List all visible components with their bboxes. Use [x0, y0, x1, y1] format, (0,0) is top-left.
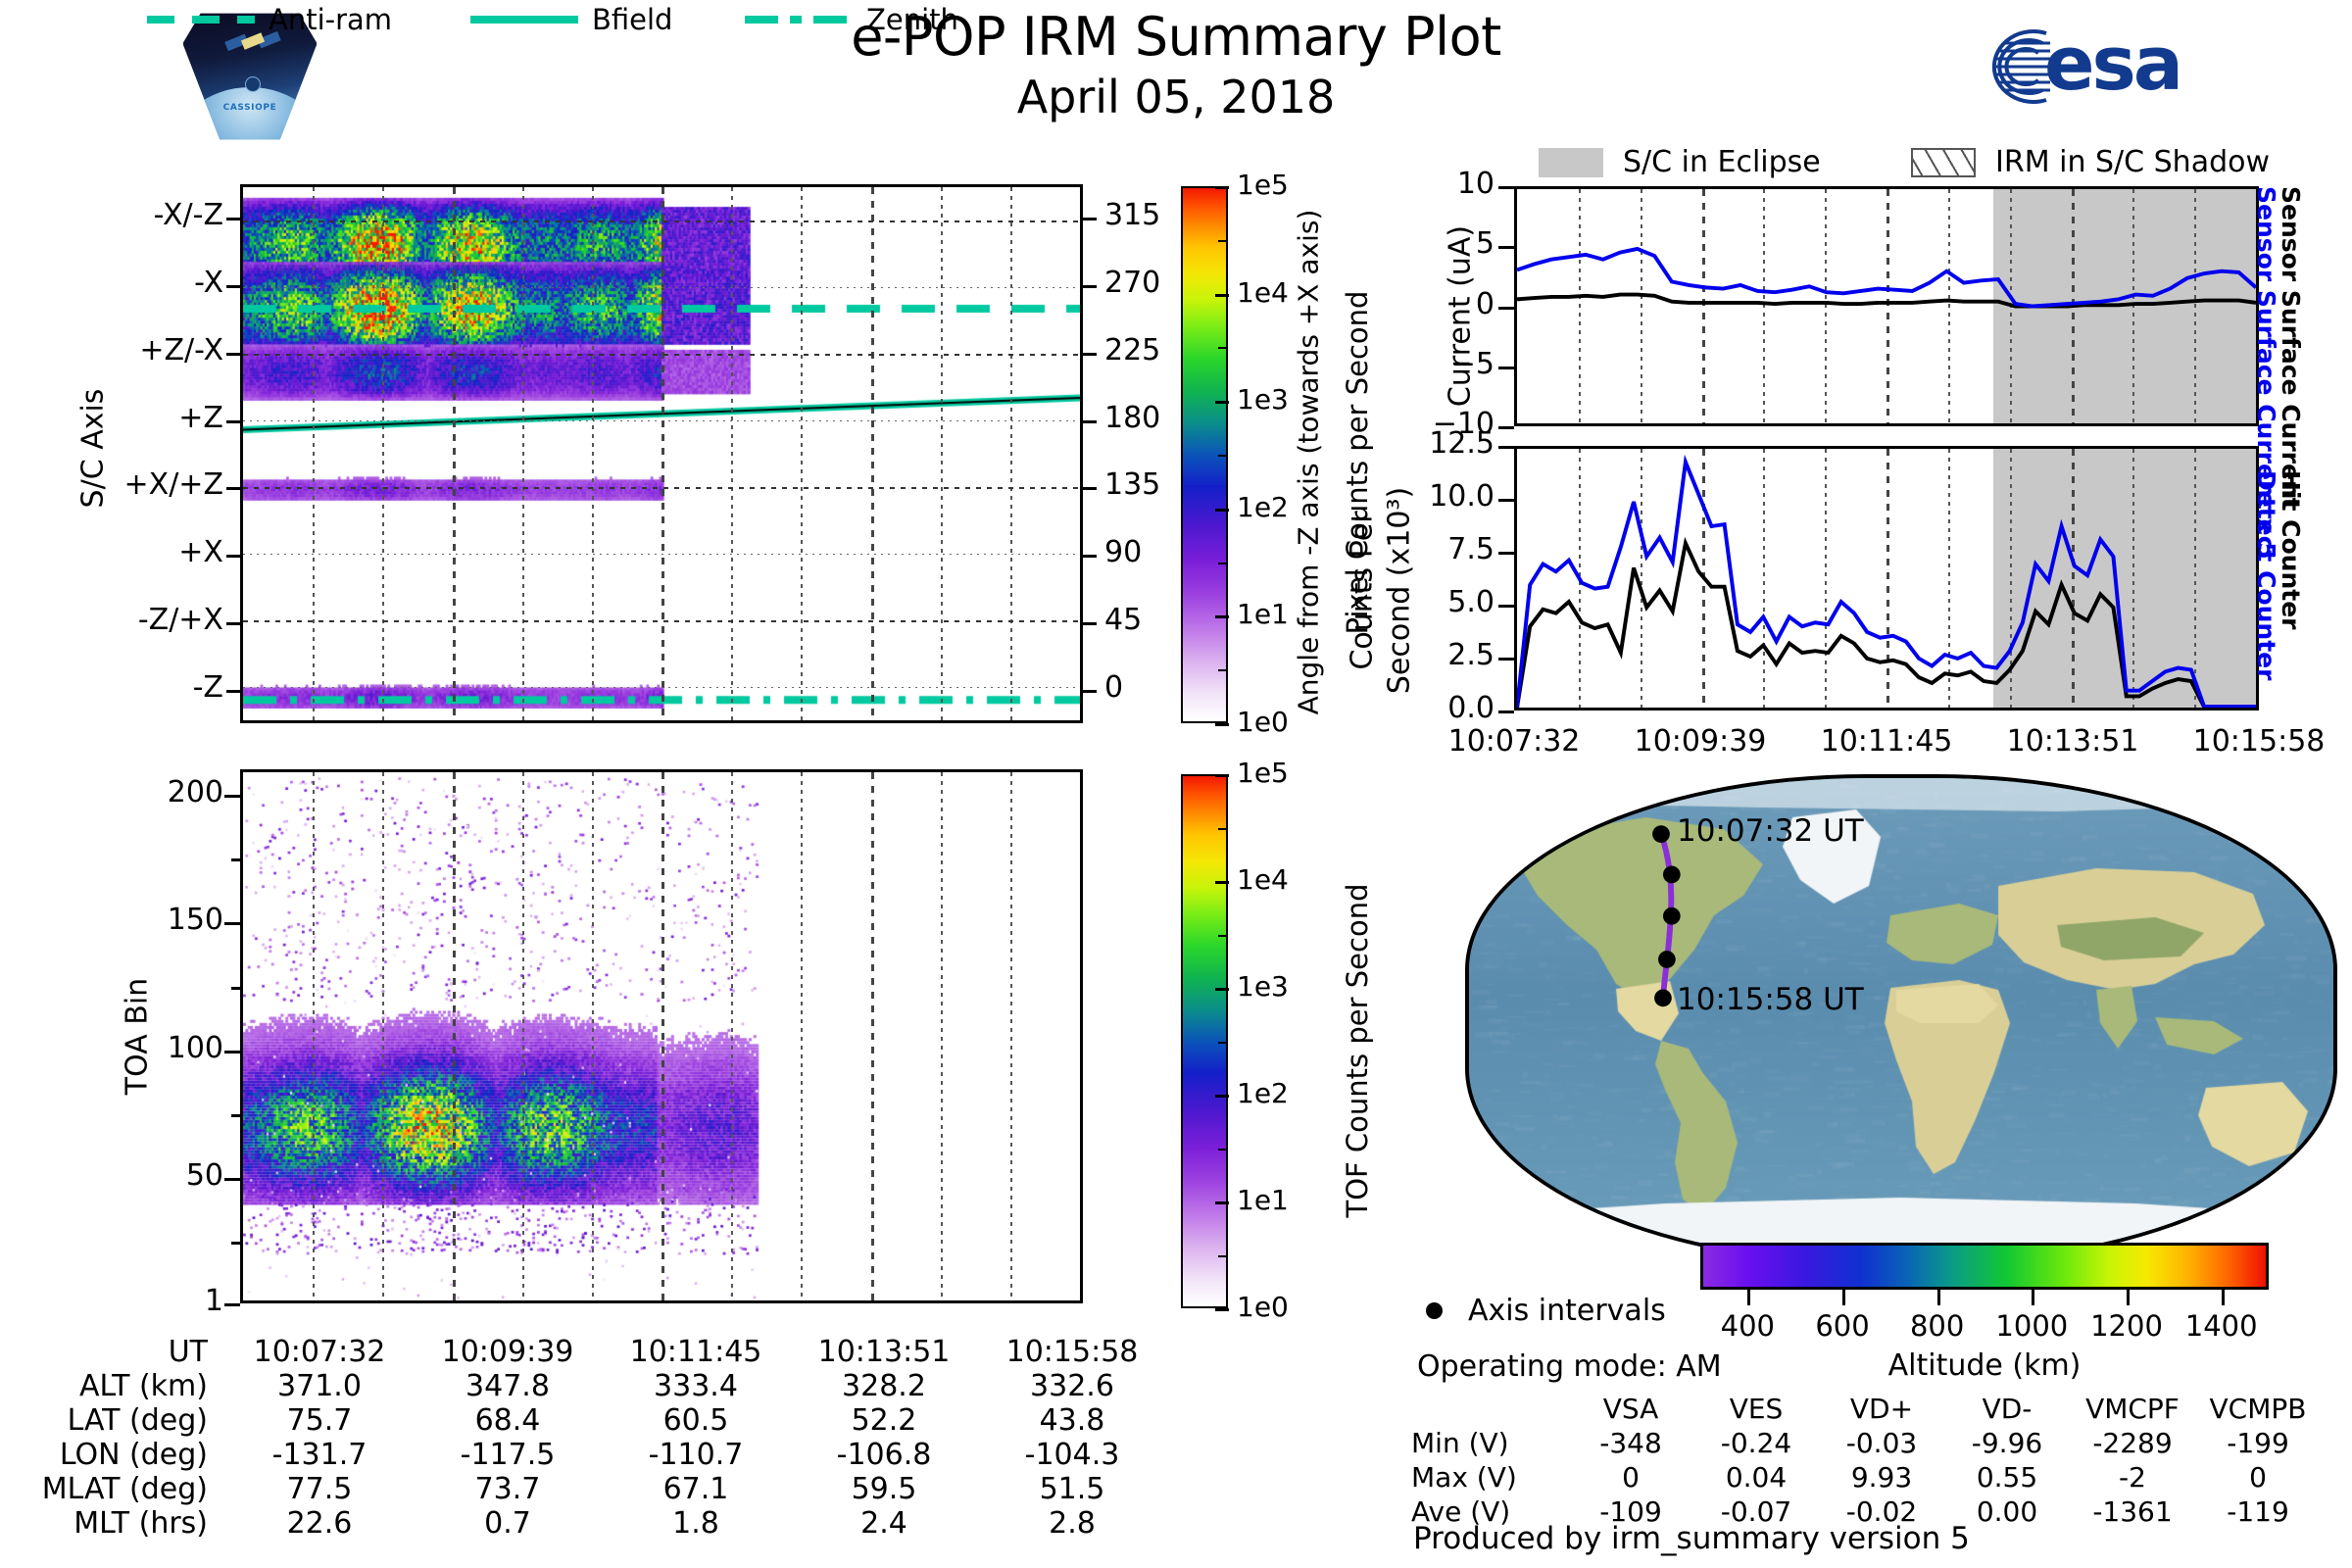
colorbar-minor-tick — [1218, 294, 1228, 296]
legend-label-anti-ram: Anti-ram — [269, 3, 392, 36]
colorbar-minor-tick — [1218, 1095, 1228, 1097]
gridline-horizontal — [243, 220, 1080, 222]
toa-ytick-2: 100 — [0, 1031, 223, 1065]
gridline-vertical — [731, 187, 733, 720]
ytick-mark — [1498, 658, 1514, 661]
ephemeris-cell: 68.4 — [414, 1403, 602, 1438]
ytick-mark — [226, 622, 240, 625]
gridline-vertical — [382, 772, 384, 1300]
colorbar-minor-tick — [1218, 1149, 1228, 1151]
legend-item-shadow: IRM in S/C Shadow — [1911, 145, 2270, 179]
shadow-hatch-swatch-icon — [1911, 148, 1976, 177]
counts-ytick-1: 10.0 — [1338, 479, 1494, 514]
angle-tick-6: 45 — [1104, 603, 1142, 637]
ytick-minor — [231, 1114, 240, 1117]
ytick-minor — [231, 1178, 240, 1181]
gridline-horizontal — [243, 420, 1080, 421]
counts-ytick-0: 12.5 — [1338, 426, 1494, 461]
ephemeris-cell: 332.6 — [978, 1369, 1166, 1403]
ephemeris-cell: 43.8 — [978, 1403, 1166, 1438]
ephemeris-cell: 75.7 — [225, 1403, 414, 1438]
ytick-mark — [1498, 446, 1514, 449]
colorbar-minor-tick — [1218, 615, 1228, 617]
gridline-vertical — [453, 772, 456, 1300]
voltage-cell: 0.55 — [1944, 1460, 2070, 1494]
current-ytick-2: 0 — [1338, 287, 1494, 321]
angle-panel-ytick-2: +Z/-X — [0, 333, 223, 367]
ytick-mark — [1498, 710, 1514, 713]
table-row: LAT (deg)75.768.460.552.243.8 — [29, 1403, 1166, 1438]
ephemeris-cell: 2.8 — [978, 1506, 1166, 1541]
orbit-world-map: 10:07:32 UT 10:15:58 UT — [1465, 774, 2337, 1264]
ytick-mark — [226, 353, 240, 356]
colorbar-tick-1: 1e4 — [1237, 276, 1289, 309]
anti-ram-line-icon — [147, 16, 255, 24]
ytick-mark — [226, 690, 240, 693]
ytick-mark — [226, 420, 240, 423]
table-row: ALT (km)371.0347.8333.4328.2332.6 — [29, 1369, 1166, 1403]
counts-xtick-1: 10:09:39 — [1597, 724, 1803, 759]
colorbar-tick-5: 1e0 — [1237, 1291, 1289, 1323]
voltage-row-header: Min (V) — [1411, 1426, 1568, 1460]
counts-xtick-0: 10:07:32 — [1411, 724, 1617, 759]
axis-interval-dot-icon — [1426, 1302, 1443, 1319]
current-ytick-1: 5 — [1338, 226, 1494, 261]
angle-panel-ytick-7: -Z — [0, 670, 223, 705]
counts-panel — [1514, 446, 2259, 710]
voltage-corner-cell — [1411, 1392, 1568, 1426]
gridline-vertical — [522, 772, 524, 1300]
ephemeris-cell: 52.2 — [790, 1403, 978, 1438]
ytick-mark — [1498, 605, 1514, 608]
colorbar-tick-2: 1e3 — [1237, 383, 1289, 416]
toa-ytick-4: 1 — [0, 1284, 223, 1318]
current-ytick-0: 10 — [1338, 167, 1494, 201]
voltage-cell: -119 — [2195, 1494, 2321, 1529]
gridline-vertical — [592, 187, 594, 720]
angle-spectrogram-panel — [240, 184, 1083, 723]
gridline-horizontal — [243, 620, 1080, 622]
ephemeris-cell: 10:15:58 — [978, 1335, 1166, 1369]
voltage-cell: -2 — [2070, 1460, 2195, 1494]
voltage-cell: 0 — [1568, 1460, 1693, 1494]
angle-panel-ytick-1: -X — [0, 266, 223, 300]
counts-xtick-2: 10:11:45 — [1784, 724, 1989, 759]
eclipse-swatch-icon — [1539, 148, 1603, 177]
ytick-minor — [231, 987, 240, 990]
map-start-time-label: 10:07:32 UT — [1677, 813, 1864, 849]
ephemeris-row-header: LAT (deg) — [29, 1403, 225, 1438]
voltage-col-header: VCMPB — [2195, 1392, 2321, 1426]
counts-traces — [1517, 449, 2256, 708]
bfield-line-icon — [470, 16, 578, 24]
ephemeris-cell: 60.5 — [602, 1403, 790, 1438]
ytick-mark-right — [1083, 353, 1097, 356]
gridline-horizontal — [243, 554, 1080, 555]
colorbar-minor-tick — [1218, 563, 1228, 564]
voltage-cell: 0 — [2195, 1460, 2321, 1494]
current-panel — [1514, 186, 2259, 426]
ytick-mark — [226, 285, 240, 288]
colorbar-tick-mark — [1215, 1308, 1229, 1311]
ytick-mark-right — [1083, 218, 1097, 220]
ytick-mark — [224, 1303, 240, 1306]
angle-panel-ytick-0: -X/-Z — [0, 198, 223, 232]
ytick-mark — [1498, 367, 1514, 369]
colorbar-tick-mark — [1215, 774, 1229, 777]
ytick-mark — [226, 555, 240, 558]
gridline-horizontal — [243, 487, 1080, 489]
ytick-mark — [226, 487, 240, 490]
voltage-col-header: VMCPF — [2070, 1392, 2195, 1426]
gridline-vertical — [871, 772, 874, 1300]
colorbar-minor-tick — [1218, 935, 1228, 937]
axis-intervals-label: Axis intervals — [1468, 1294, 1666, 1328]
zenith-line-icon — [745, 16, 853, 24]
ephemeris-cell: -117.5 — [414, 1438, 602, 1472]
angle-tick-0: 315 — [1104, 198, 1160, 232]
counts-xtick-3: 10:13:51 — [1970, 724, 2176, 759]
voltage-cell: -0.24 — [1693, 1426, 1819, 1460]
trace-hit-counter — [1517, 543, 2256, 708]
voltage-cell: -0.03 — [1819, 1426, 1944, 1460]
voltage-col-header: VD+ — [1819, 1392, 1944, 1426]
angle-panel-ytick-3: +Z — [0, 401, 223, 435]
voltage-col-header: VES — [1693, 1392, 1819, 1426]
counts-ytick-3: 5.0 — [1338, 585, 1494, 619]
gridline-horizontal — [243, 354, 1080, 356]
altitude-tick-mark — [2032, 1290, 2034, 1305]
altitude-tick-mark — [2127, 1290, 2130, 1305]
cassiope-patch-label: CASSIOPE — [183, 103, 317, 113]
colorbar-minor-tick — [1218, 828, 1228, 830]
ephemeris-cell: 371.0 — [225, 1369, 414, 1403]
ephemeris-cell: -110.7 — [602, 1438, 790, 1472]
ephemeris-row-header: MLT (hrs) — [29, 1506, 225, 1541]
gridline-vertical — [801, 187, 803, 720]
altitude-tick-mark — [1747, 1290, 1750, 1305]
counts-right-label-black: Hit Counter — [2277, 470, 2305, 630]
ephemeris-row-header: LON (deg) — [29, 1438, 225, 1472]
trace-detect-counter — [1517, 462, 2256, 708]
ytick-minor — [231, 922, 240, 925]
ephemeris-cell: 347.8 — [414, 1369, 602, 1403]
colorbar-tick-4: 1e1 — [1237, 1184, 1289, 1216]
altitude-colorbar-title: Altitude (km) — [1700, 1348, 2269, 1383]
voltage-col-header: VD- — [1944, 1392, 2070, 1426]
angle-tick-4: 135 — [1104, 467, 1160, 502]
colorbar-minor-tick — [1218, 1255, 1228, 1257]
legend-label-eclipse: S/C in Eclipse — [1623, 145, 1821, 179]
ephemeris-cell: 67.1 — [602, 1472, 790, 1506]
angle-panel-ytick-6: -Z/+X — [0, 603, 223, 637]
ytick-mark — [226, 218, 240, 220]
ytick-mark — [1498, 426, 1514, 429]
voltage-cell: -1361 — [2070, 1494, 2195, 1529]
angle-panel-ytick-5: +X — [0, 535, 223, 569]
voltage-cell: 9.93 — [1819, 1460, 1944, 1494]
angle-tick-1: 270 — [1104, 266, 1160, 300]
voltage-cell: -2289 — [2070, 1426, 2195, 1460]
gridline-vertical — [871, 187, 874, 720]
counts-ytick-4: 2.5 — [1338, 638, 1494, 672]
ephemeris-table: UT10:07:3210:09:3910:11:4510:13:5110:15:… — [29, 1335, 1166, 1541]
ephemeris-cell: 328.2 — [790, 1369, 978, 1403]
ephemeris-row-header: MLAT (deg) — [29, 1472, 225, 1506]
ephemeris-cell: 10:09:39 — [414, 1335, 602, 1369]
ytick-minor — [231, 1051, 240, 1053]
colorbar-tick-1: 1e4 — [1237, 863, 1289, 896]
orbit-track — [1469, 778, 2333, 1260]
ephemeris-row-header: UT — [29, 1335, 225, 1369]
gridline-vertical — [382, 187, 384, 720]
ytick-mark-right — [1083, 420, 1097, 423]
voltage-cell: -199 — [2195, 1426, 2321, 1460]
table-row: Max (V)00.049.930.55-20 — [1411, 1460, 2321, 1494]
gridline-vertical — [453, 187, 456, 720]
colorbar-tick-0: 1e5 — [1237, 757, 1289, 789]
gridline-vertical — [731, 772, 733, 1300]
colorbar-minor-tick — [1218, 347, 1228, 349]
voltage-cell: -9.96 — [1944, 1426, 2070, 1460]
table-row: MLT (hrs)22.60.71.82.42.8 — [29, 1506, 1166, 1541]
operating-mode-label: Operating mode: AM — [1417, 1349, 1722, 1384]
altitude-tick-mark — [2222, 1290, 2225, 1305]
counts-ytick-5: 0.0 — [1338, 691, 1494, 725]
angle-tick-7: 0 — [1104, 670, 1123, 705]
table-row: VSAVESVD+VD-VMCPFVCMPB — [1411, 1392, 2321, 1426]
ephemeris-cell: -104.3 — [978, 1438, 1166, 1472]
ytick-minor — [231, 1242, 240, 1245]
toa-spectrogram-panel — [240, 769, 1083, 1303]
ephemeris-row-header: ALT (km) — [29, 1369, 225, 1403]
counts-xtick-4: 10:15:58 — [2156, 724, 2352, 759]
gridline-vertical — [941, 772, 943, 1300]
ytick-mark — [1498, 246, 1514, 249]
ephemeris-cell: 1.8 — [602, 1506, 790, 1541]
colorbar-tick-3: 1e2 — [1237, 1077, 1289, 1109]
table-row: UT10:07:3210:09:3910:11:4510:13:5110:15:… — [29, 1335, 1166, 1369]
ephemeris-cell: 0.7 — [414, 1506, 602, 1541]
ephemeris-cell: 73.7 — [414, 1472, 602, 1506]
current-right-label-black: Sensor Surface Current — [2277, 186, 2305, 510]
gridline-vertical — [592, 772, 594, 1300]
colorbar-minor-tick — [1218, 881, 1228, 883]
voltage-cell: 0.04 — [1693, 1460, 1819, 1494]
tof-counts-colorbar-title: TOF Counts per Second — [1341, 776, 1374, 1325]
gridline-vertical — [1010, 772, 1012, 1300]
gridline-vertical — [522, 187, 524, 720]
colorbar-minor-tick — [1218, 401, 1228, 403]
ytick-mark-right — [1083, 285, 1097, 288]
map-marker-legend: Axis intervals — [1426, 1294, 1666, 1328]
ytick-mark-right — [1083, 622, 1097, 625]
colorbar-minor-tick — [1218, 669, 1228, 671]
ephemeris-cell: 59.5 — [790, 1472, 978, 1506]
legend-item-anti-ram: Anti-ram — [147, 0, 392, 39]
gridline-horizontal — [243, 687, 1080, 688]
ephemeris-cell: 10:13:51 — [790, 1335, 978, 1369]
voltage-cell: -348 — [1568, 1426, 1693, 1460]
toa-ytick-3: 50 — [0, 1158, 223, 1193]
current-traces — [1517, 189, 2256, 423]
angle-panel-ytick-4: +X/+Z — [0, 467, 223, 502]
gridline-vertical — [313, 772, 315, 1300]
ephemeris-cell: 10:11:45 — [602, 1335, 790, 1369]
ephemeris-cell: 333.4 — [602, 1369, 790, 1403]
altitude-tick-mark — [1842, 1290, 1845, 1305]
colorbar-minor-tick — [1218, 1042, 1228, 1044]
right-panel-legend: S/C in Eclipse IRM in S/C Shadow — [1539, 145, 2352, 184]
altitude-tick-5: 1400 — [2153, 1309, 2290, 1343]
footer-text: Produced by irm_summary version 5 — [1413, 1521, 1970, 1556]
colorbar-minor-tick — [1218, 988, 1228, 990]
legend-item-zenith: Zenith — [745, 0, 958, 39]
ephemeris-cell: 10:07:32 — [225, 1335, 414, 1369]
angle-tick-3: 180 — [1104, 401, 1160, 435]
ytick-minor — [231, 858, 240, 861]
colorbar-tick-2: 1e3 — [1237, 970, 1289, 1003]
colorbar-minor-tick — [1218, 509, 1228, 511]
ytick-mark-right — [1083, 555, 1097, 558]
colorbar-tick-0: 1e5 — [1237, 169, 1289, 201]
toa-ytick-0: 200 — [0, 775, 223, 809]
esa-wordmark: esa — [2044, 20, 2180, 107]
legend-item-eclipse: S/C in Eclipse — [1539, 145, 1821, 179]
ytick-mark — [1498, 499, 1514, 502]
map-end-time-label: 10:15:58 UT — [1677, 982, 1864, 1017]
gridline-horizontal — [243, 287, 1080, 288]
gridline-vertical — [801, 772, 803, 1300]
ephemeris-cell: -131.7 — [225, 1438, 414, 1472]
table-row: LON (deg)-131.7-117.5-110.7-106.8-104.3 — [29, 1438, 1166, 1472]
gridline-vertical — [313, 187, 315, 720]
esa-swoosh-icon — [1960, 24, 2054, 110]
toa-ytick-1: 150 — [0, 903, 223, 937]
gridline-vertical — [661, 187, 664, 720]
colorbar-minor-tick — [1218, 1201, 1228, 1203]
angle-tick-2: 225 — [1104, 333, 1160, 367]
legend-label-bfield: Bfield — [592, 3, 672, 36]
table-row: Min (V)-348-0.24-0.03-9.96-2289-199 — [1411, 1426, 2321, 1460]
ytick-mark-right — [1083, 690, 1097, 693]
ephemeris-cell: -106.8 — [790, 1438, 978, 1472]
colorbar-minor-tick — [1218, 455, 1228, 457]
current-ytick-3: −5 — [1338, 347, 1494, 381]
ytick-mark — [1498, 552, 1514, 555]
counts-ytick-2: 7.5 — [1338, 532, 1494, 566]
ephemeris-cell: 22.6 — [225, 1506, 414, 1541]
gridline-vertical — [1010, 187, 1012, 720]
gridline-vertical — [941, 187, 943, 720]
legend-item-bfield: Bfield — [470, 0, 672, 39]
colorbar-tick-mark — [1215, 186, 1229, 189]
gridline-vertical — [661, 772, 664, 1300]
table-row: MLAT (deg)77.573.767.159.551.5 — [29, 1472, 1166, 1506]
esa-logo-icon: esa — [1960, 14, 2244, 122]
colorbar-minor-tick — [1218, 240, 1228, 242]
altitude-tick-mark — [1937, 1290, 1940, 1305]
ephemeris-cell: 77.5 — [225, 1472, 414, 1506]
ytick-mark — [1498, 307, 1514, 310]
voltage-row-header: Max (V) — [1411, 1460, 1568, 1494]
ytick-mark-right — [1083, 487, 1097, 490]
ytick-mark — [1498, 186, 1514, 189]
legend-label-shadow: IRM in S/C Shadow — [1995, 145, 2270, 179]
ytick-minor — [231, 795, 240, 798]
ephemeris-cell: 2.4 — [790, 1506, 978, 1541]
altitude-colorbar — [1700, 1243, 2269, 1290]
legend-label-zenith: Zenith — [866, 3, 958, 36]
trace-sensor-surface-current-x-5 — [1517, 249, 2256, 307]
voltage-col-header: VSA — [1568, 1392, 1693, 1426]
colorbar-tick-mark — [1215, 723, 1229, 726]
angle-tick-5: 90 — [1104, 535, 1142, 569]
ephemeris-cell: 51.5 — [978, 1472, 1166, 1506]
voltage-summary-table: VSAVESVD+VD-VMCPFVCMPBMin (V)-348-0.24-0… — [1411, 1392, 2321, 1529]
